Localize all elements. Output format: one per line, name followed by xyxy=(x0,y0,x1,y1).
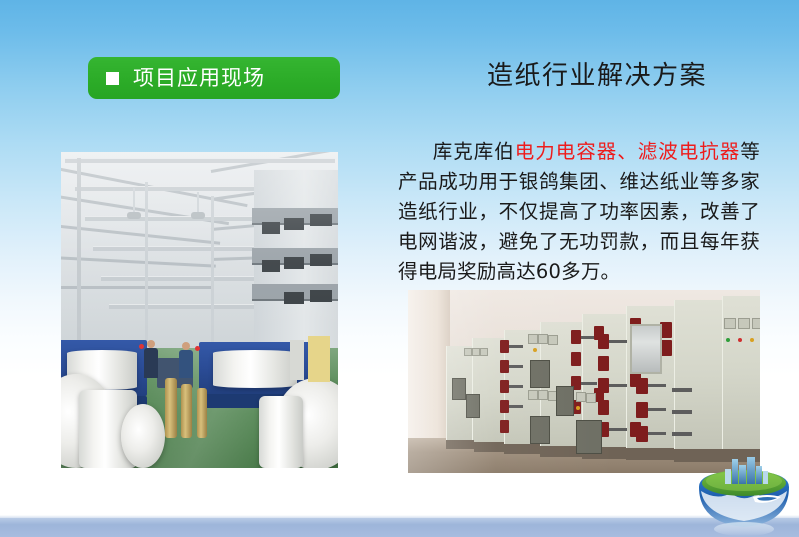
body-paragraph: 库克库伯电力电容器、滤波电抗器等产品成功用于银鸽集团、维达纸业等多家造纸行业，不… xyxy=(398,137,760,287)
section-badge: 项目应用现场 xyxy=(88,57,340,99)
page-title: 造纸行业解决方案 xyxy=(487,55,707,92)
paper-mill-factory-photo xyxy=(61,152,338,468)
paragraph-segment-highlight: 电力电容器、滤波电抗器 xyxy=(515,140,741,163)
section-badge-label: 项目应用现场 xyxy=(133,68,265,89)
earth-city-globe-logo xyxy=(691,457,797,537)
square-bullet-icon xyxy=(106,72,119,85)
slide-root: 项目应用现场 造纸行业解决方案 库克库伯电力电容器、滤波电抗器等产品成功用于银鸽… xyxy=(0,0,799,537)
switchgear-panels-photo xyxy=(408,290,760,473)
paragraph-segment-plain-1: 库克库伯 xyxy=(432,140,515,163)
bottom-strip xyxy=(0,518,799,537)
